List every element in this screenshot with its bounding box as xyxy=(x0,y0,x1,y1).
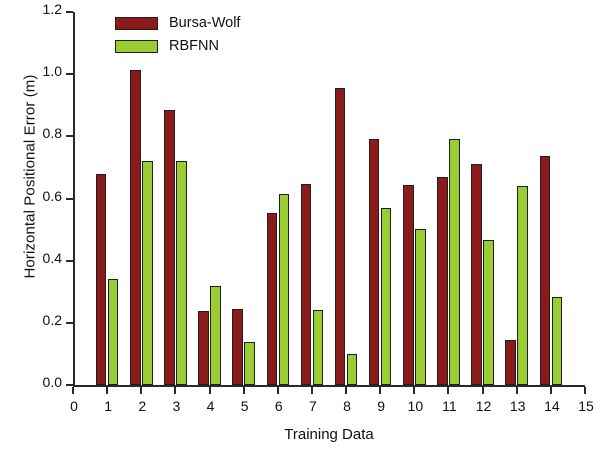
x-tick xyxy=(550,387,552,394)
y-tick: 0.4 xyxy=(66,260,73,262)
bar xyxy=(483,240,494,385)
x-tick xyxy=(311,387,313,394)
bar xyxy=(335,88,346,385)
bar xyxy=(232,309,243,385)
x-tick-label: 13 xyxy=(503,398,533,414)
bar-chart-figure: Horizontal Positional Error (m) Training… xyxy=(0,0,601,452)
y-tick-label: 1.0 xyxy=(22,63,62,79)
y-axis-line xyxy=(73,12,75,385)
legend-label-rbfnn: RBFNN xyxy=(169,38,219,54)
x-tick xyxy=(345,387,347,394)
x-axis-title: Training Data xyxy=(73,426,585,443)
x-tick-label: 9 xyxy=(366,398,396,414)
x-tick-label: 1 xyxy=(93,398,123,414)
bar xyxy=(244,342,255,385)
x-tick xyxy=(379,387,381,394)
x-tick-label: 11 xyxy=(434,398,464,414)
x-tick-label: 14 xyxy=(537,398,567,414)
bar xyxy=(369,139,380,385)
x-tick xyxy=(106,387,108,394)
bar xyxy=(279,194,290,385)
bar xyxy=(381,208,392,385)
bar xyxy=(313,310,324,385)
bar xyxy=(517,186,528,385)
bar xyxy=(415,229,426,385)
x-tick-label: 15 xyxy=(571,398,601,414)
bar xyxy=(142,161,153,385)
bar xyxy=(505,340,516,385)
legend-label-bursa-wolf: Bursa-Wolf xyxy=(169,15,240,31)
x-tick-label: 10 xyxy=(400,398,430,414)
y-tick-label: 1.2 xyxy=(22,1,62,17)
x-tick xyxy=(447,387,449,394)
x-tick xyxy=(584,387,586,394)
x-tick-label: 4 xyxy=(196,398,226,414)
x-tick-label: 5 xyxy=(230,398,260,414)
y-tick: 0.0 xyxy=(66,384,73,386)
x-tick-label: 3 xyxy=(161,398,191,414)
x-tick xyxy=(277,387,279,394)
x-axis-line xyxy=(73,385,585,387)
x-tick-label: 12 xyxy=(469,398,499,414)
x-tick xyxy=(243,387,245,394)
bar xyxy=(301,184,312,385)
x-tick xyxy=(72,387,74,394)
y-tick: 1.0 xyxy=(66,73,73,75)
y-tick-label: 0.6 xyxy=(22,188,62,204)
legend-item-rbfnn: RBFNN xyxy=(115,36,240,56)
y-tick: 0.6 xyxy=(66,198,73,200)
bar xyxy=(540,156,551,385)
legend-swatch-icon-rbfnn xyxy=(115,40,158,53)
x-tick-label: 6 xyxy=(264,398,294,414)
legend-swatch-icon-bursa-wolf xyxy=(115,17,158,30)
bar xyxy=(130,70,141,385)
x-tick xyxy=(413,387,415,394)
bar xyxy=(198,311,209,385)
bar xyxy=(437,177,448,385)
x-tick xyxy=(174,387,176,394)
legend: Bursa-Wolf RBFNN xyxy=(115,13,240,59)
y-tick-label: 0.2 xyxy=(22,312,62,328)
bar xyxy=(210,286,221,385)
bar xyxy=(449,139,460,385)
x-tick xyxy=(516,387,518,394)
x-tick-label: 8 xyxy=(332,398,362,414)
x-tick-label: 2 xyxy=(127,398,157,414)
y-tick-label: 0.8 xyxy=(22,125,62,141)
x-tick-label: 0 xyxy=(59,398,89,414)
bar xyxy=(96,174,107,385)
bar xyxy=(267,213,278,385)
bar xyxy=(347,354,358,385)
x-tick xyxy=(140,387,142,394)
y-tick: 0.8 xyxy=(66,135,73,137)
x-tick xyxy=(209,387,211,394)
y-tick: 1.2 xyxy=(66,11,73,13)
bar xyxy=(552,297,563,385)
x-tick xyxy=(482,387,484,394)
bar xyxy=(471,164,482,385)
y-tick: 0.2 xyxy=(66,322,73,324)
y-tick-label: 0.0 xyxy=(22,374,62,390)
bar xyxy=(108,279,119,385)
bar xyxy=(164,110,175,385)
y-tick-label: 0.4 xyxy=(22,250,62,266)
x-tick-label: 7 xyxy=(298,398,328,414)
legend-item-bursa-wolf: Bursa-Wolf xyxy=(115,13,240,33)
bar xyxy=(176,161,187,385)
plot-area: 0.00.20.40.60.81.01.2 012345678910111213… xyxy=(73,12,585,385)
bar xyxy=(403,185,414,385)
